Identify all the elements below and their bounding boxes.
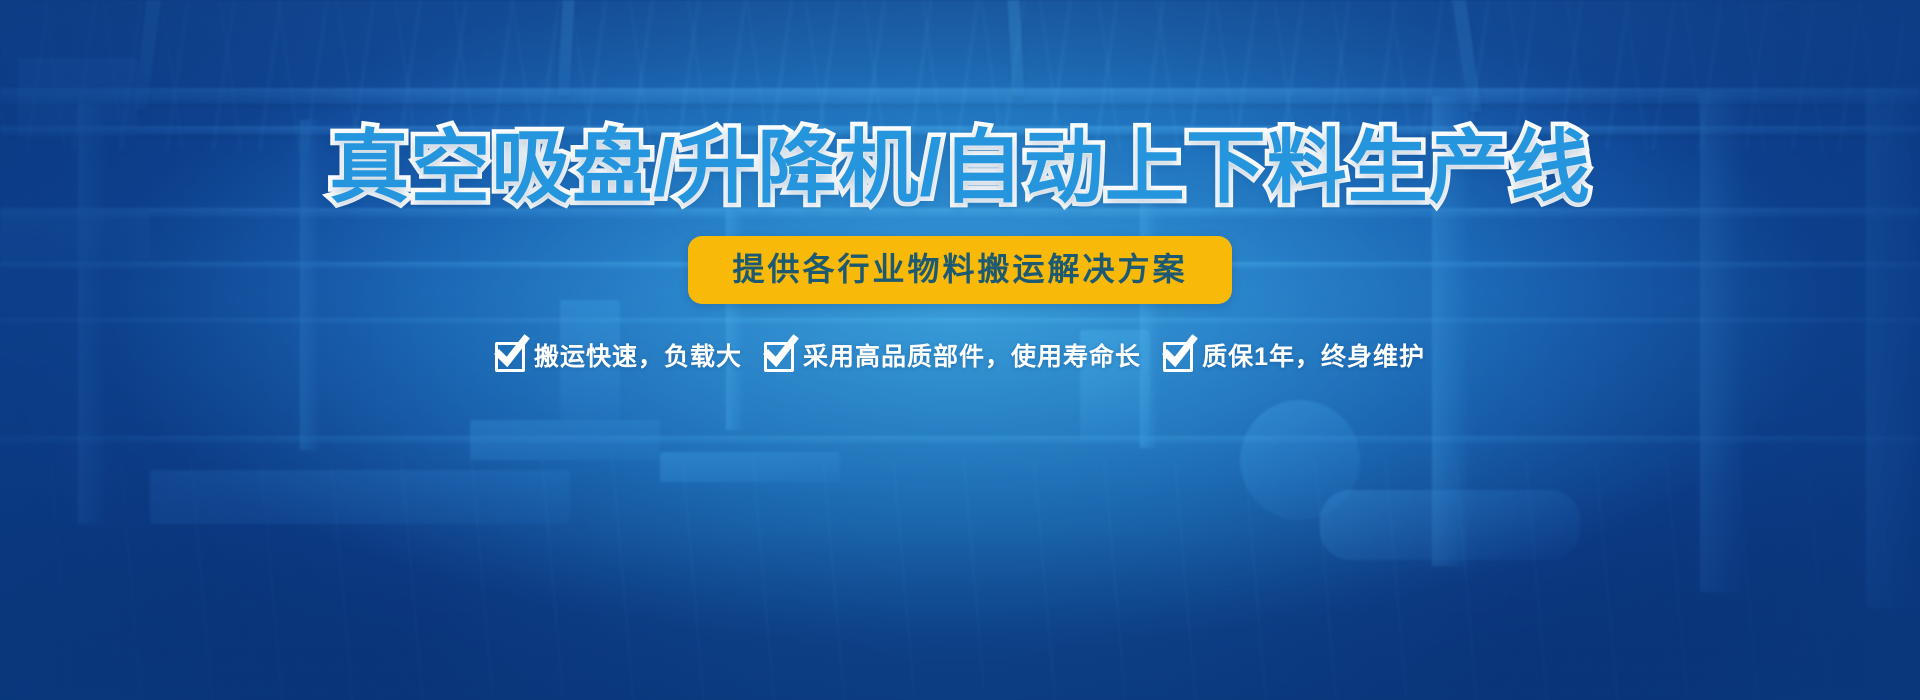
banner-title: 真空吸盘/升降机/自动上下料生产线 xyxy=(0,128,1920,208)
feature-item-3: 质保1年，终身维护 xyxy=(1163,342,1425,372)
feature-item-1: 搬运快速，负载大 xyxy=(495,342,742,372)
feature-label: 搬运快速，负载大 xyxy=(534,345,742,370)
banner-content: 真空吸盘/升降机/自动上下料生产线 提供各行业物料搬运解决方案 搬运快速，负载大 xyxy=(0,0,1920,700)
checkbox-checked-icon xyxy=(764,342,794,372)
banner-subtitle-area: 提供各行业物料搬运解决方案 xyxy=(0,236,1920,304)
checkbox-checked-icon xyxy=(1163,342,1193,372)
feature-item-2: 采用高品质部件，使用寿命长 xyxy=(764,342,1141,372)
checkbox-checked-icon xyxy=(495,342,525,372)
feature-label: 质保1年，终身维护 xyxy=(1202,345,1425,370)
feature-list: 搬运快速，负载大 采用高品质部件，使用寿命长 质保1年，终身维护 xyxy=(0,342,1920,372)
subtitle-badge: 提供各行业物料搬运解决方案 xyxy=(688,236,1231,304)
feature-label: 采用高品质部件，使用寿命长 xyxy=(803,345,1141,370)
hero-banner: 真空吸盘/升降机/自动上下料生产线 提供各行业物料搬运解决方案 搬运快速，负载大 xyxy=(0,0,1920,700)
